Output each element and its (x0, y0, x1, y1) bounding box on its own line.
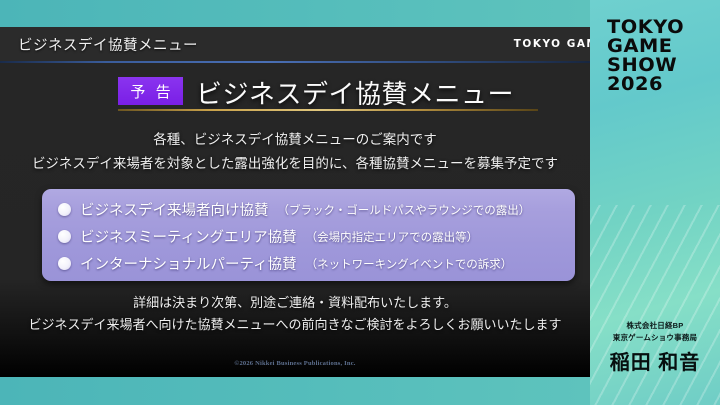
list-item-note: （ネットワーキングイベントでの訴求） (306, 256, 513, 272)
list-item-note: （ブラック・ゴールドパスやラウンジでの露出） (278, 202, 531, 218)
title-divider (118, 109, 538, 111)
status-badge: 予 告 (118, 77, 183, 105)
closing-line-2: ビジネスデイ来場者へ向けた協賛メニューへの前向きなご検討をよろしくお願いいたしま… (0, 314, 590, 333)
closing-line-1: 詳細は決まり次第、別途ご連絡・資料配布いたします。 (0, 292, 590, 311)
copyright-notice: ©2026 Nikkei Business Publications, Inc. (0, 360, 590, 367)
list-item-label: ビジネスミーティングエリア協賛 (80, 226, 297, 247)
list-item: ビジネスミーティングエリア協賛 （会場内指定エリアでの露出等） (58, 226, 478, 247)
page-title: ビジネスデイ協賛メニュー (196, 74, 514, 111)
logo-line-4: 2026 (607, 75, 705, 94)
right-side-panel: TOKYO GAME SHOW 2026 株式会社日経BP 東京ゲームショウ事務… (590, 0, 720, 405)
slide-canvas: ビジネスデイ協賛メニュー TOKYO GAME SHOW 2026 予 告 ビジ… (0, 0, 720, 405)
speaker-credit: 株式会社日経BP 東京ゲームショウ事務局 稲田 和音 (590, 320, 720, 375)
title-row: 予 告 ビジネスデイ協賛メニュー (0, 76, 590, 108)
list-item-label: ビジネスデイ来場者向け協賛 (80, 199, 269, 220)
lead-line-1: 各種、ビジネスデイ協賛メニューのご案内です (0, 128, 590, 148)
list-item-label: インターナショナルパーティ協賛 (80, 253, 297, 274)
list-item-note: （会場内指定エリアでの露出等） (306, 229, 479, 245)
diagonal-streak-pattern (590, 205, 720, 405)
sponsor-menu-box: ビジネスデイ来場者向け協賛 （ブラック・ゴールドパスやラウンジでの露出） ビジネ… (42, 189, 575, 281)
bottom-teal-band (0, 377, 590, 405)
list-item: ビジネスデイ来場者向け協賛 （ブラック・ゴールドパスやラウンジでの露出） (58, 199, 530, 220)
tokyo-game-show-logo: TOKYO GAME SHOW 2026 (608, 18, 704, 94)
list-item: インターナショナルパーティ協賛 （ネットワーキングイベントでの訴求） (58, 253, 512, 274)
bullet-dot-icon (58, 203, 71, 216)
header-underline (0, 61, 590, 63)
header-title: ビジネスデイ協賛メニュー (18, 34, 198, 55)
speaker-org-department: 東京ゲームショウ事務局 (590, 332, 720, 343)
speaker-name: 稲田 和音 (590, 346, 720, 375)
top-teal-band (0, 0, 590, 27)
lead-line-2: ビジネスデイ来場者を対象とした露出強化を目的に、各種協賛メニューを募集予定です (0, 152, 590, 172)
speaker-org-company: 株式会社日経BP (590, 320, 720, 331)
bullet-dot-icon (58, 230, 71, 243)
bullet-dot-icon (58, 257, 71, 270)
